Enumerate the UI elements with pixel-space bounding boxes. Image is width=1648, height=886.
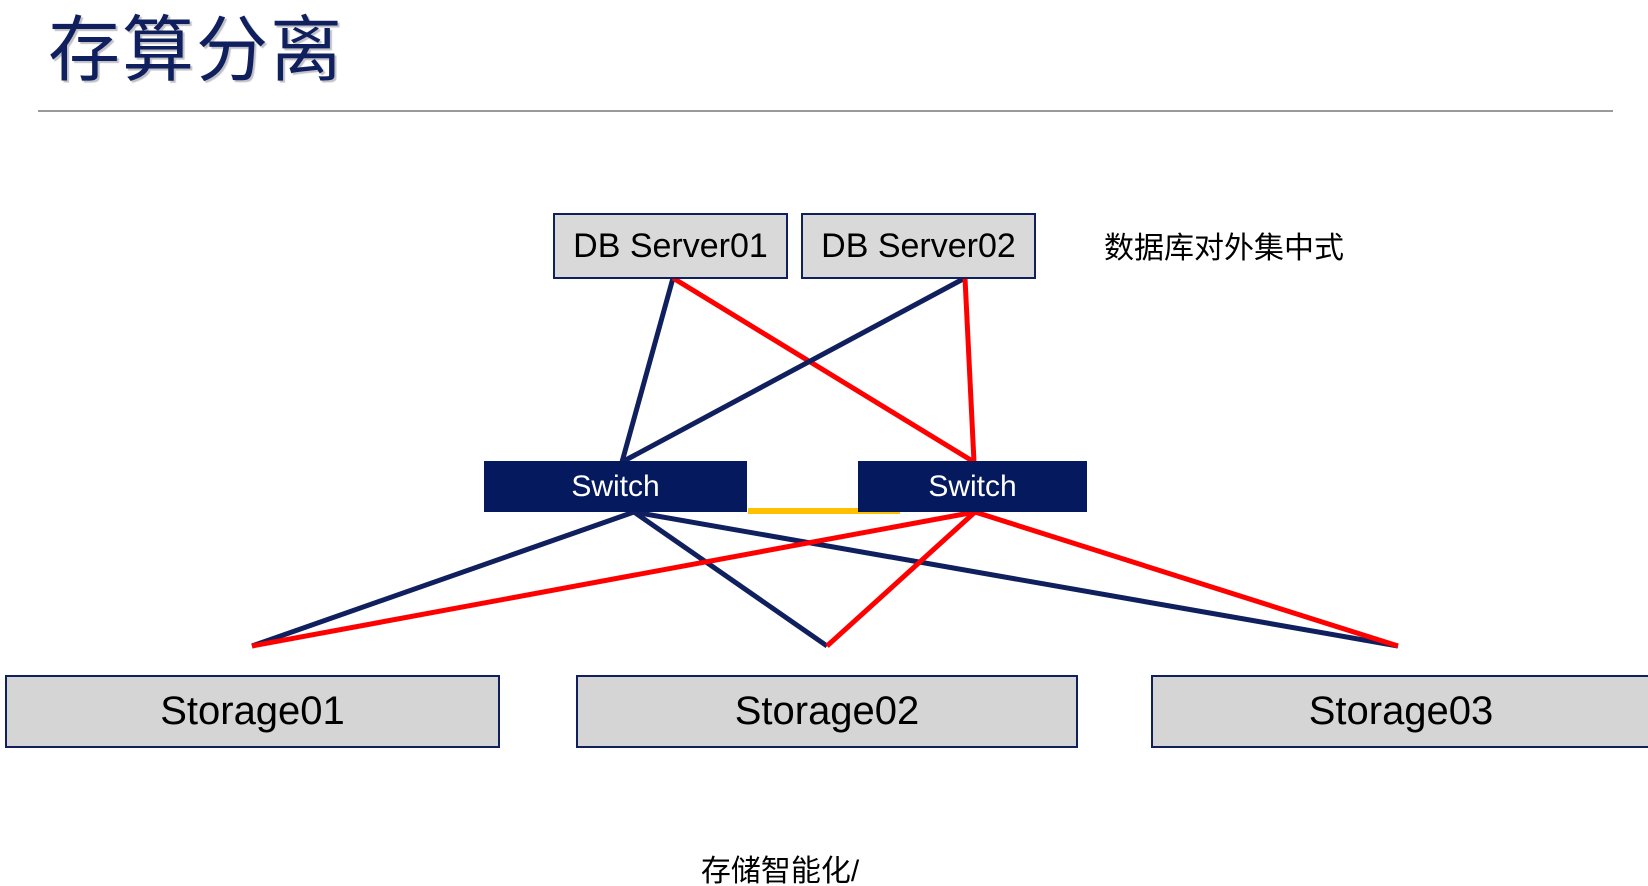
db-server-node-label: DB Server01 — [573, 227, 768, 266]
link-sw02-st01 — [252, 512, 975, 646]
storage-node-label: Storage03 — [1309, 689, 1494, 734]
switch-node-label: Switch — [928, 470, 1016, 504]
switch-node-2[interactable]: Switch — [858, 461, 1087, 512]
caption-line-1: 存储智能化/ — [700, 850, 860, 886]
link-sw01-st02 — [634, 512, 827, 646]
storage-node-label: Storage02 — [735, 689, 920, 734]
db-server-node-label: DB Server02 — [821, 227, 1016, 266]
storage-node-1[interactable]: Storage01 — [5, 675, 500, 748]
db-server-node-1[interactable]: DB Server01 — [553, 213, 788, 279]
annotation-storage-intelligent: 存储智能化/ 分布式 — [700, 762, 860, 886]
link-sw01-st01 — [252, 512, 634, 646]
slide-canvas: 存算分离 DB Server01DB Server02SwitchSwitchS… — [0, 0, 1648, 886]
storage-node-label: Storage01 — [160, 689, 345, 734]
link-db01-sw01 — [622, 278, 673, 462]
switch-node-1[interactable]: Switch — [484, 461, 747, 512]
link-db02-sw01 — [622, 278, 965, 462]
annotation-database-centralized: 数据库对外集中式 — [1104, 229, 1344, 269]
switch-node-label: Switch — [571, 470, 659, 504]
connection-links-layer — [0, 0, 1648, 886]
link-sw02-st03 — [975, 512, 1398, 646]
storage-node-2[interactable]: Storage02 — [576, 675, 1078, 748]
link-db02-sw02 — [965, 278, 974, 462]
storage-node-3[interactable]: Storage03 — [1151, 675, 1648, 748]
link-db01-sw02 — [673, 278, 974, 462]
architecture-diagram: DB Server01DB Server02SwitchSwitchStorag… — [0, 0, 1648, 886]
link-sw01-st03 — [634, 512, 1398, 646]
db-server-node-2[interactable]: DB Server02 — [801, 213, 1036, 279]
link-sw02-st02 — [827, 512, 975, 646]
